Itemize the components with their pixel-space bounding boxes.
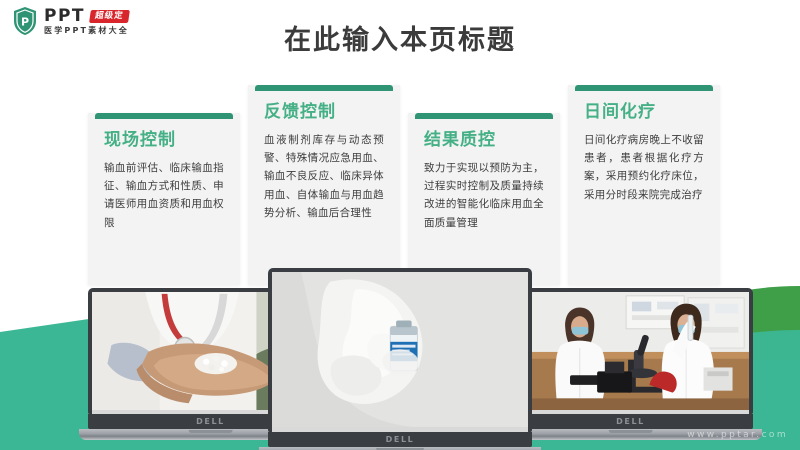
card-accent-bar	[95, 113, 233, 119]
shield-icon: P	[12, 6, 38, 36]
card-content: 反馈控制 血液制剂库存与动态预警、特殊情况应急用血、输血不良反应、临床异体用血、…	[248, 85, 400, 233]
card-body: 日间化疗病房晚上不收留患者，患者根据化疗方案，采用预约化疗床位，采用分时段来院完…	[584, 131, 704, 205]
laptop-brand-label: DELL	[386, 435, 415, 444]
info-card-rijian[interactable]: 日间化疗 日间化疗病房晚上不收留患者，患者根据化疗方案，采用预约化疗床位，采用分…	[568, 85, 720, 285]
info-card-jieguo[interactable]: 结果质控 致力于实现以预防为主，过程实时控制及质量持续改进的智能化临床用血全面质…	[408, 113, 560, 285]
logo-text-block: PPT 超级定 医学PPT素材大全	[44, 8, 129, 35]
shield-letter: P	[21, 16, 29, 29]
card-title: 现场控制	[104, 131, 224, 150]
info-card-fankui[interactable]: 反馈控制 血液制剂库存与动态预警、特殊情况应急用血、输血不良反应、临床异体用血、…	[248, 85, 400, 285]
photo-vaccine-vial	[272, 272, 528, 427]
card-content: 结果质控 致力于实现以预防为主，过程实时控制及质量持续改进的智能化临床用血全面质…	[408, 113, 560, 242]
card-body: 输血前评估、临床输血指征、输血方式和性质、申请医师用血资质和用血权限	[104, 159, 224, 233]
card-body: 血液制剂库存与动态预警、特殊情况应急用血、输血不良反应、临床异体用血、自体输血与…	[264, 131, 384, 223]
photo-lab-technicians	[512, 292, 749, 410]
laptop-brand-label: DELL	[616, 417, 645, 426]
laptop-screen-photo-vaccine-vial	[272, 272, 528, 432]
card-title: 结果质控	[424, 131, 544, 150]
card-accent-bar	[415, 113, 553, 119]
laptop-screen-photo-lab-technicians	[512, 292, 749, 414]
card-accent-bar	[255, 85, 393, 91]
logo-primary-line: PPT 超级定	[44, 8, 129, 25]
info-card-xianchang[interactable]: 现场控制 输血前评估、临床输血指征、输血方式和性质、申请医师用血资质和用血权限	[88, 113, 240, 285]
laptop-center[interactable]: DELL	[268, 268, 532, 450]
card-accent-bar	[575, 85, 713, 91]
laptop-right[interactable]: DELL	[508, 288, 753, 440]
laptop-chin: DELL	[508, 414, 753, 429]
card-content: 日间化疗 日间化疗病房晚上不收留患者，患者根据化疗方案，采用预约化疗床位，采用分…	[568, 85, 720, 214]
logo-wordmark: PPT	[44, 8, 85, 25]
card-title: 反馈控制	[264, 103, 384, 122]
card-body: 致力于实现以预防为主，过程实时控制及质量持续改进的智能化临床用血全面质量管理	[424, 159, 544, 233]
laptop-lid	[508, 288, 753, 414]
site-watermark: www.pptar.com	[687, 430, 788, 440]
card-title: 日间化疗	[584, 103, 704, 122]
laptop-lid	[268, 268, 532, 432]
logo-badge: 超级定	[89, 10, 129, 23]
brand-logo[interactable]: P PPT 超级定 医学PPT素材大全	[12, 6, 129, 36]
laptop-chin: DELL	[268, 432, 532, 447]
laptop-brand-label: DELL	[196, 417, 225, 426]
card-content: 现场控制 输血前评估、临床输血指征、输血方式和性质、申请医师用血资质和用血权限	[88, 113, 240, 242]
logo-subtitle: 医学PPT素材大全	[44, 27, 129, 35]
